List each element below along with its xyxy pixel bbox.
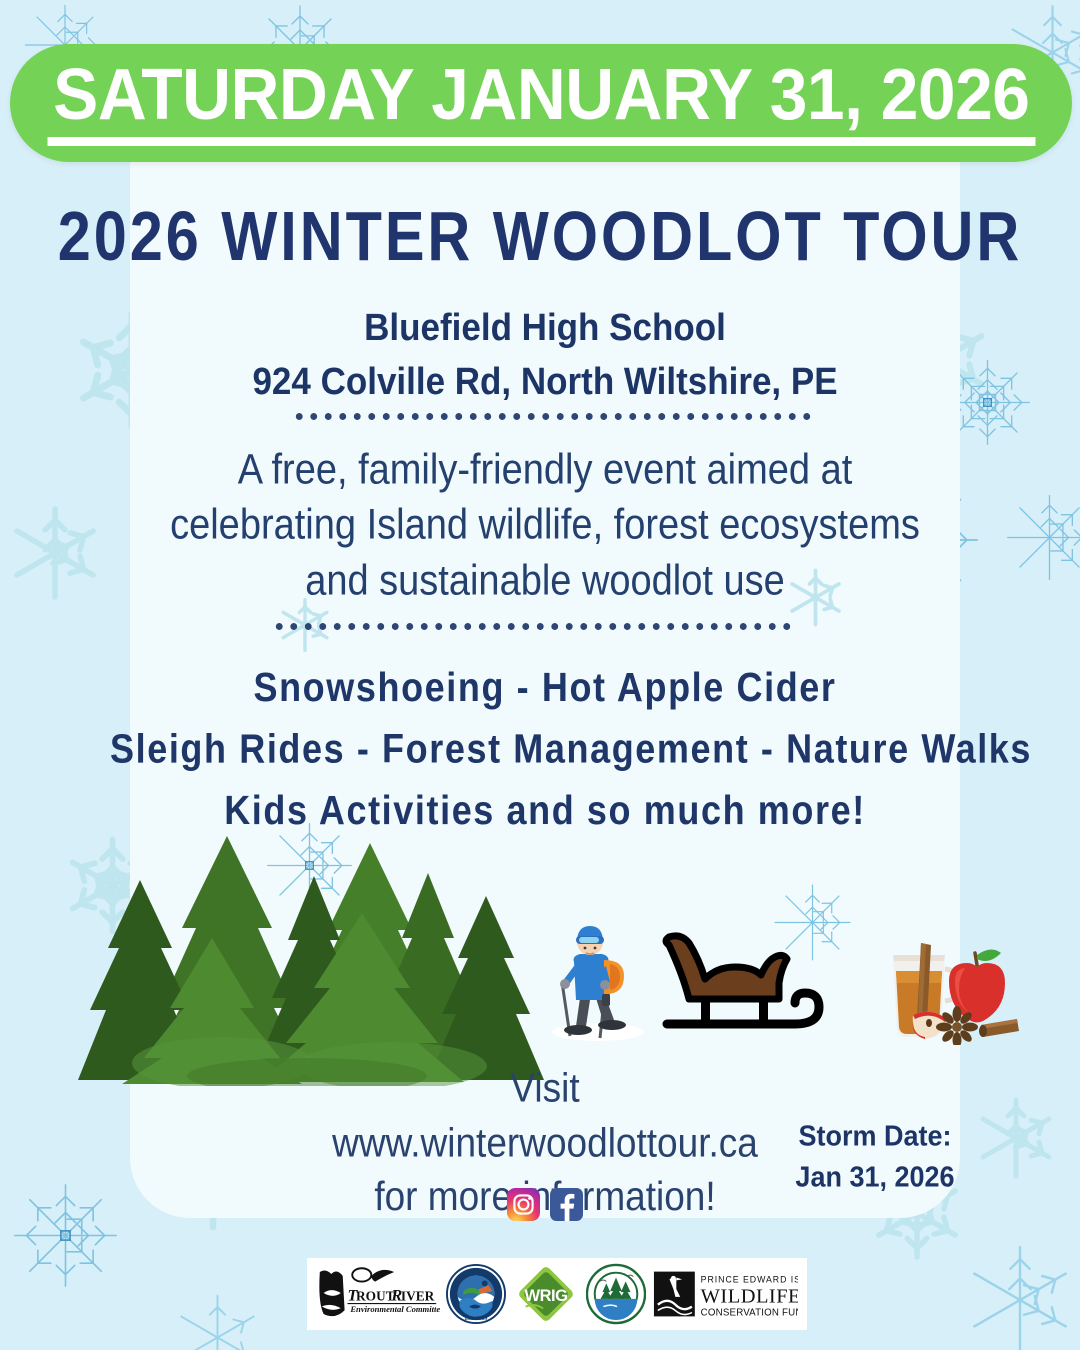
storm-date-block: Storm Date: Jan 31, 2026 bbox=[770, 1116, 980, 1199]
activities-line-1: Snowshoeing - Hot Apple Cider bbox=[110, 657, 980, 719]
page-title: 2026 Winter Woodlot Tour bbox=[5, 196, 1074, 276]
storm-date-value: Jan 31, 2026 bbox=[770, 1157, 980, 1198]
hot-apple-cider-illustration bbox=[885, 925, 1020, 1045]
sleigh-illustration bbox=[655, 925, 845, 1040]
svg-text:WRIG: WRIG bbox=[525, 1287, 568, 1305]
svg-text:IVER: IVER bbox=[401, 1289, 435, 1304]
activities-list: Snowshoeing - Hot Apple Cider Sleigh Rid… bbox=[110, 657, 980, 842]
website-url[interactable]: www.winterwoodlottour.ca bbox=[330, 1115, 760, 1170]
snowflake-icon bbox=[960, 1240, 1080, 1350]
description-line-2: celebrating Island wildlife, forest ecos… bbox=[130, 498, 960, 553]
venue-name: Bluefield High School bbox=[130, 301, 960, 355]
pei-wildlife-conservation-fund-logo: PRINCE EDWARD ISLAND WILDLIFE CONSERVATI… bbox=[652, 1263, 798, 1325]
svg-text:CONSERVATION FUND: CONSERVATION FUND bbox=[701, 1307, 798, 1318]
snowflake-icon bbox=[8, 1178, 123, 1293]
winter-woodlot-tour-poster: SATURDAY JANUARY 31, 2026 2026 Winter Wo… bbox=[0, 0, 1080, 1350]
svg-text:PRINCE EDWARD ISLAND: PRINCE EDWARD ISLAND bbox=[701, 1274, 798, 1284]
hunter-clyde-watershed-group-logo: Est. 1999 bbox=[446, 1263, 506, 1325]
storm-date-label: Storm Date: bbox=[770, 1116, 980, 1157]
social-links bbox=[330, 1188, 760, 1221]
sponsor-logo-strip: T ROUT R IVER Environmental Committee Es… bbox=[307, 1258, 807, 1330]
snowflake-icon bbox=[170, 1290, 265, 1350]
website-line-1: Visit bbox=[330, 1061, 760, 1116]
event-description: A free, family-friendly event aimed at c… bbox=[130, 443, 960, 609]
evergreen-trees-illustration bbox=[62, 818, 552, 1086]
dotted-divider bbox=[272, 622, 794, 631]
snowflake-icon bbox=[1002, 490, 1080, 585]
svg-text:ROUT: ROUT bbox=[356, 1289, 395, 1304]
snowshoer-illustration bbox=[540, 920, 650, 1045]
event-date-banner: SATURDAY JANUARY 31, 2026 bbox=[10, 44, 1072, 162]
wrig-logo: WRIG bbox=[512, 1263, 580, 1325]
central-queens-wildlife-federation-logo bbox=[586, 1263, 646, 1325]
instagram-icon[interactable] bbox=[507, 1188, 540, 1221]
venue-block: Bluefield High School 924 Colville Rd, N… bbox=[130, 301, 960, 408]
snowflake-icon bbox=[966, 1088, 1066, 1188]
event-date-text: SATURDAY JANUARY 31, 2026 bbox=[47, 60, 1035, 146]
svg-text:Est. 1999: Est. 1999 bbox=[465, 1316, 488, 1322]
description-line-3: and sustainable woodlot use bbox=[130, 554, 960, 609]
description-line-1: A free, family-friendly event aimed at bbox=[130, 443, 960, 498]
activities-line-2: Sleigh Rides - Forest Management - Natur… bbox=[110, 718, 980, 780]
trout-river-environmental-committee-logo: T ROUT R IVER Environmental Committee bbox=[316, 1263, 440, 1325]
svg-text:Environmental Committee: Environmental Committee bbox=[349, 1304, 440, 1314]
snowflake-icon bbox=[0, 498, 110, 608]
venue-address: 924 Colville Rd, North Wiltshire, PE bbox=[130, 355, 960, 409]
svg-text:WILDLIFE: WILDLIFE bbox=[701, 1286, 798, 1308]
facebook-icon[interactable] bbox=[550, 1188, 583, 1221]
dotted-divider bbox=[292, 412, 812, 421]
